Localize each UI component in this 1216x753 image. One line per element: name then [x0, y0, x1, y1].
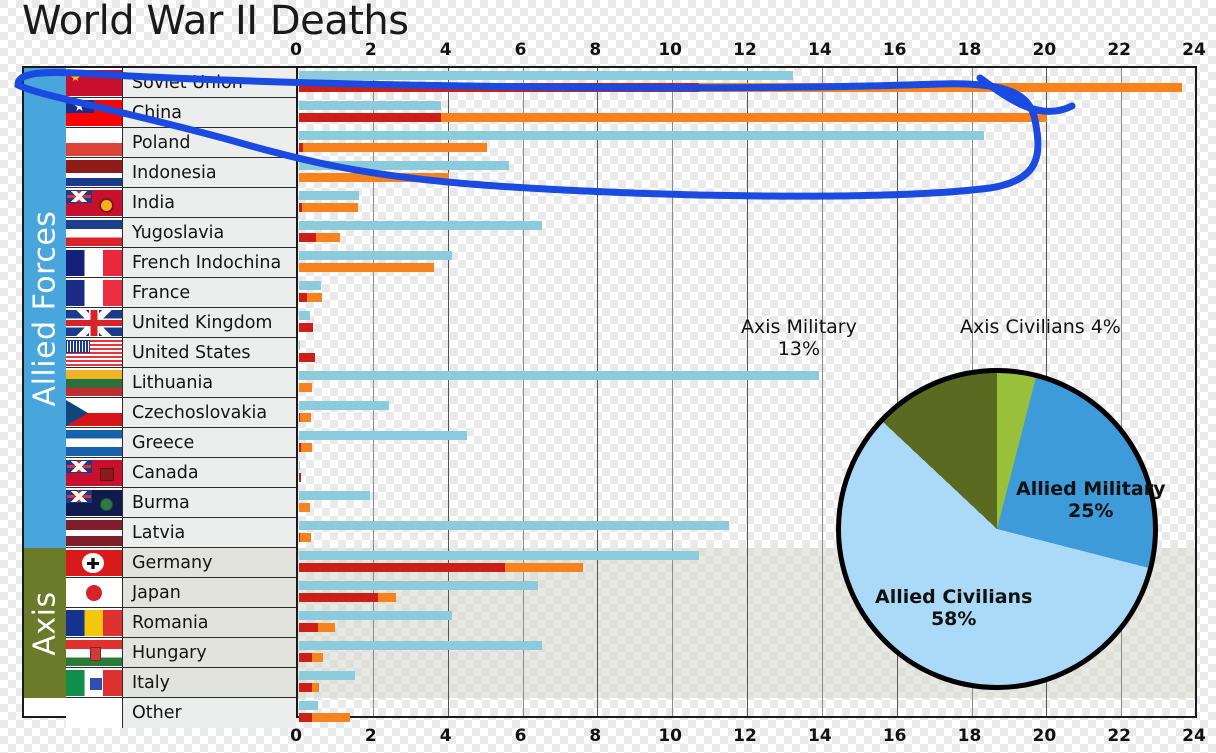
table-row[interactable]: United States: [66, 338, 296, 368]
table-row[interactable]: Japan: [66, 578, 296, 608]
japan-flag: [66, 580, 122, 606]
bar-military-extra: [316, 233, 340, 242]
bar-military: [299, 713, 312, 722]
bar-military-extra: [699, 83, 1182, 92]
country-name-label: United Kingdom: [122, 308, 296, 337]
country-flag-cell: [66, 128, 122, 157]
nl-blue-stripe: [66, 178, 122, 186]
axis-tick-label: 6: [515, 40, 527, 60]
country-flag-cell: [66, 188, 122, 217]
country-flag-cell: [66, 548, 122, 577]
country-name-label: Romania: [122, 608, 296, 637]
x-axis-top: 024681012141618202224: [0, 40, 1216, 62]
british-india-flag: [66, 190, 122, 216]
bar-civilian: [299, 251, 452, 260]
bar-military: [299, 473, 301, 482]
bar-group: [298, 98, 1199, 128]
axis-tick-label: 22: [1107, 40, 1131, 60]
table-row[interactable]: Czechoslovakia: [66, 398, 296, 428]
country-name-label: India: [122, 188, 296, 217]
axis-tick-label: 18: [958, 726, 982, 746]
nazi-germany-flag: [66, 550, 122, 576]
country-flag-cell: [66, 98, 122, 127]
axis-tick-label: 22: [1107, 726, 1131, 746]
bar-civilian: [299, 101, 441, 110]
bar-military-extra: [307, 293, 322, 302]
bar-military-extra: [302, 203, 358, 212]
bar-civilian: [299, 551, 699, 560]
savoy-shield-icon: [89, 677, 103, 691]
bar-military: [299, 113, 441, 122]
country-name-label: Soviet Union: [122, 68, 296, 97]
table-row[interactable]: Indonesia: [66, 158, 296, 188]
bar-civilian: [299, 221, 542, 230]
country-name-label: Poland: [122, 128, 296, 157]
table-row[interactable]: Poland: [66, 128, 296, 158]
table-row[interactable]: Lithuania: [66, 368, 296, 398]
italy-kingdom-flag: [66, 670, 122, 696]
bar-civilian: [299, 311, 310, 320]
table-row[interactable]: Romania: [66, 608, 296, 638]
bar-group: [298, 68, 1199, 98]
united-kingdom-flag: [66, 310, 122, 336]
union-jack-icon: [67, 491, 91, 502]
country-name-label: French Indochina: [122, 248, 296, 277]
chart-canvas: World War II Deaths 02468101214161820222…: [0, 0, 1216, 753]
bar-military-extra: [505, 563, 584, 572]
bar-military: [299, 83, 699, 92]
country-flag-cell: [66, 668, 122, 697]
axis-tick-label: 24: [1182, 40, 1206, 60]
bar-civilian: [299, 371, 819, 380]
bar-group: [298, 128, 1199, 158]
bar-military-extra: [300, 413, 311, 422]
axis-tick-label: 14: [808, 40, 832, 60]
axis-tick-label: 14: [808, 726, 832, 746]
axis-tick-label: 24: [1182, 726, 1206, 746]
pie-label-axis-military: Axis Military 13%: [741, 316, 857, 361]
country-flag-cell: [66, 158, 122, 187]
axis-tick-label: 2: [365, 40, 377, 60]
bar-civilian: [299, 491, 370, 500]
country-flag-cell: [66, 638, 122, 667]
star-of-india-icon: [99, 198, 114, 213]
country-label-table: Allied Forces Axis Soviet UnionChinaPola…: [22, 66, 298, 718]
country-flag-cell: [66, 428, 122, 457]
bar-group: [298, 248, 1199, 278]
bar-civilian: [299, 281, 321, 290]
bar-military: [299, 563, 505, 572]
bar-military: [299, 593, 378, 602]
bar-civilian: [299, 401, 389, 410]
bar-military-extra: [378, 593, 397, 602]
country-name-label: United States: [122, 338, 296, 367]
bar-civilian: [299, 521, 729, 530]
bar-group: [298, 218, 1199, 248]
bar-civilian: [299, 71, 793, 80]
bar-civilian: [299, 641, 542, 650]
bar-military-extra: [303, 143, 486, 152]
axis-tick-label: 20: [1032, 726, 1056, 746]
country-name-label: Yugoslavia: [122, 218, 296, 247]
burma-emblem-icon: [100, 498, 113, 511]
union-jack-red: [66, 310, 122, 336]
bar-civilian: [299, 431, 467, 440]
bar-military: [299, 353, 315, 362]
canada-shield-icon: [100, 468, 114, 481]
country-name-label: Canada: [122, 458, 296, 487]
china-roc-flag: [66, 100, 122, 126]
bar-group: [298, 158, 1199, 188]
axis-tick-label: 4: [440, 726, 452, 746]
axis-tick-label: 8: [589, 726, 601, 746]
axis-tick-label: 16: [883, 40, 907, 60]
axis-tick-label: 0: [290, 726, 302, 746]
country-name-label: Indonesia: [122, 158, 296, 187]
bar-military: [299, 623, 318, 632]
hammer-sickle-icon: [71, 73, 80, 81]
country-name-label: China: [122, 98, 296, 127]
french-indochina-flag: [66, 250, 122, 276]
country-flag-cell: [66, 578, 122, 607]
axis-tick-label: 10: [658, 40, 682, 60]
page-title: World War II Deaths: [22, 0, 409, 44]
table-row[interactable]: Other: [66, 698, 296, 728]
greece-flag: [66, 430, 122, 456]
table-row[interactable]: France: [66, 278, 296, 308]
country-name-label: France: [122, 278, 296, 307]
axis-tick-label: 10: [658, 726, 682, 746]
country-name-label: Italy: [122, 668, 296, 697]
cz-triangle: [66, 400, 88, 426]
axis-tick-label: 20: [1032, 40, 1056, 60]
hungary-flag: [66, 640, 122, 666]
country-flag-cell: [66, 368, 122, 397]
axis-tick-label: 6: [515, 726, 527, 746]
usa-stars: [67, 341, 89, 352]
table-row[interactable]: Canada: [66, 458, 296, 488]
bar-military: [299, 683, 312, 692]
bar-military-extra: [312, 713, 349, 722]
axis-tick-label: 2: [365, 726, 377, 746]
table-row[interactable]: French Indochina: [66, 248, 296, 278]
country-name-label: Lithuania: [122, 368, 296, 397]
bar-civilian: [299, 611, 452, 620]
bar-military-extra: [318, 623, 335, 632]
bar-civilian: [299, 701, 318, 710]
romania-flag: [66, 610, 122, 636]
axis-tick-label: 0: [290, 40, 302, 60]
pie-chart: Axis Military 13% Axis Civilians 4% Alli…: [836, 368, 1158, 690]
bar-military-extra: [312, 683, 319, 692]
bar-military: [299, 323, 313, 332]
table-row[interactable]: India: [66, 188, 296, 218]
poland-flag: [66, 130, 122, 156]
bar-military-extra: [312, 653, 323, 662]
bar-military-extra: [299, 503, 310, 512]
hungary-arms-icon: [90, 647, 101, 661]
country-flag-cell: [66, 218, 122, 247]
canada-red-ensign-flag: [66, 460, 122, 486]
pie-label-allied-civilians: Allied Civilians 58%: [875, 586, 1032, 631]
country-flag-cell: [66, 608, 122, 637]
france-flag: [66, 280, 122, 306]
country-flag-cell: [66, 398, 122, 427]
bar-civilian: [299, 581, 538, 590]
table-row[interactable]: Soviet Union: [66, 68, 296, 98]
yugoslavia-flag: [66, 220, 122, 246]
country-flag-cell: [66, 68, 122, 97]
latvia-flag: [66, 520, 122, 546]
bar-civilian: [299, 671, 355, 680]
bar-military-extra: [441, 113, 1047, 122]
country-name-label: Greece: [122, 428, 296, 457]
bar-civilian: [299, 131, 984, 140]
bar-military: [299, 233, 316, 242]
lithuania-flag: [66, 370, 122, 396]
table-row[interactable]: Yugoslavia: [66, 218, 296, 248]
country-flag-cell: [66, 518, 122, 547]
table-row[interactable]: United Kingdom: [66, 308, 296, 338]
axis-tick-label: 18: [958, 40, 982, 60]
axis-tick-label: 8: [589, 40, 601, 60]
country-name-label: Burma: [122, 488, 296, 517]
pie-label-allied-military: Allied Military 25%: [1016, 478, 1165, 523]
bar-military-extra: [299, 263, 434, 272]
country-flag-cell: [66, 488, 122, 517]
pie-circle: [836, 368, 1158, 690]
country-flag-cell: [66, 248, 122, 277]
table-row[interactable]: Hungary: [66, 638, 296, 668]
bar-group: [298, 698, 1199, 728]
country-name-label: Other: [122, 698, 296, 728]
table-row[interactable]: China: [66, 98, 296, 128]
bar-military-extra: [299, 383, 312, 392]
group-label-axis-text: Axis: [28, 591, 63, 655]
united-states-flag: [66, 340, 122, 366]
bar-group: [298, 278, 1199, 308]
pie-label-axis-civilians: Axis Civilians 4%: [960, 316, 1121, 338]
indonesia-flag: [66, 160, 122, 186]
country-name-label: Latvia: [122, 518, 296, 547]
hinomaru-icon: [86, 585, 102, 601]
table-row[interactable]: Italy: [66, 668, 296, 698]
table-row[interactable]: Burma: [66, 488, 296, 518]
bar-civilian: [299, 461, 300, 470]
group-label-allied-text: Allied Forces: [28, 210, 63, 406]
table-row[interactable]: Latvia: [66, 518, 296, 548]
country-flag-cell: [66, 698, 122, 728]
country-name-label: Hungary: [122, 638, 296, 667]
x-axis-bottom: 024681012141618202224: [0, 726, 1216, 748]
table-row[interactable]: Germany: [66, 548, 296, 578]
group-label-allied: Allied Forces: [24, 68, 66, 548]
bar-military: [299, 653, 312, 662]
bar-military-extra: [301, 443, 312, 452]
union-jack-icon: [67, 191, 91, 202]
bar-military-extra: [300, 533, 311, 542]
burma-flag: [66, 490, 122, 516]
group-label-axis: Axis: [24, 548, 66, 698]
bar-civilian: [299, 341, 300, 350]
axis-tick-label: 12: [733, 726, 757, 746]
axis-tick-label: 4: [440, 40, 452, 60]
bar-military-extra: [299, 173, 449, 182]
bar-civilian: [299, 161, 509, 170]
country-flag-cell: [66, 308, 122, 337]
bar-group: [298, 188, 1199, 218]
country-name-label: Czechoslovakia: [122, 398, 296, 427]
union-jack-icon: [67, 461, 91, 472]
axis-tick-label: 12: [733, 40, 757, 60]
bar-military: [299, 293, 307, 302]
soviet-union-flag: [66, 70, 122, 96]
country-name-label: Japan: [122, 578, 296, 607]
bar-civilian: [299, 191, 359, 200]
czechoslovakia-flag: [66, 400, 122, 426]
country-flag-cell: [66, 338, 122, 367]
country-name-label: Germany: [122, 548, 296, 577]
country-flag-cell: [66, 458, 122, 487]
table-row[interactable]: Greece: [66, 428, 296, 458]
country-flag-cell: [66, 278, 122, 307]
axis-tick-label: 16: [883, 726, 907, 746]
